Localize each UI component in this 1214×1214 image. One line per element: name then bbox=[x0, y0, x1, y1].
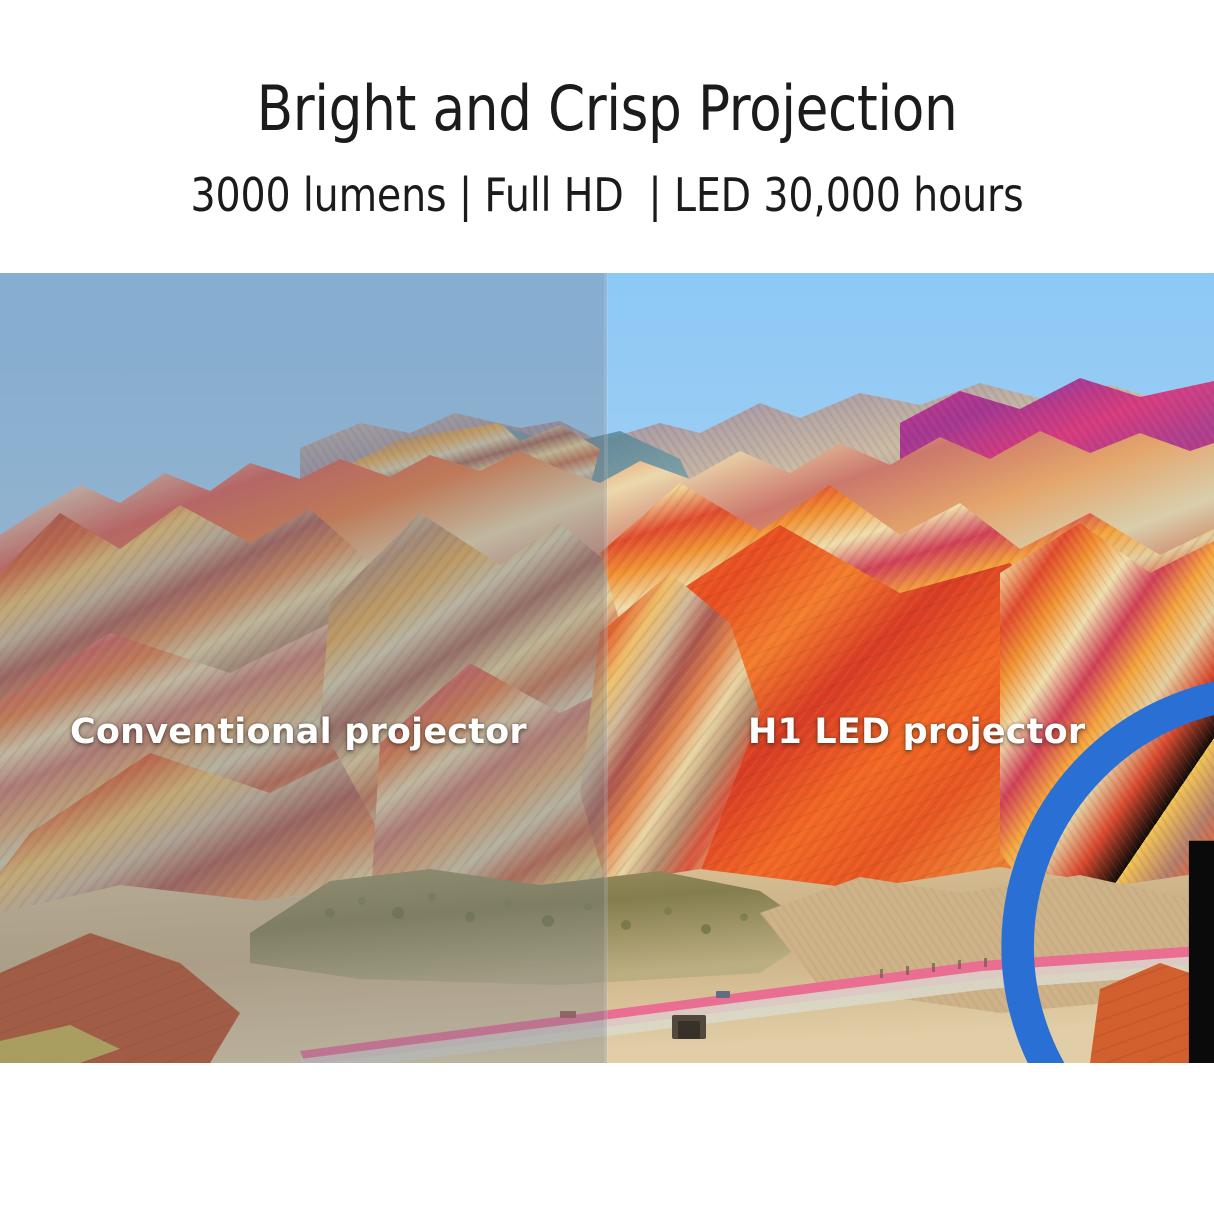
header-block: Bright and Crisp Projection 3000 lumens … bbox=[0, 0, 1214, 273]
comparison-photo: PICTURE BY DLP ® TEXAS INSTRUMENTS bbox=[0, 273, 1214, 1063]
footer-whitespace bbox=[0, 1063, 1214, 1214]
dlp-logo: PICTURE BY DLP ® TEXAS INSTRUMENTS bbox=[958, 573, 1182, 701]
product-feature-banner: Bright and Crisp Projection 3000 lumens … bbox=[0, 0, 1214, 1214]
page-title: Bright and Crisp Projection bbox=[85, 78, 1129, 140]
label-h1-led-projector: H1 LED projector bbox=[748, 712, 1085, 752]
dlp-wordmark: DLP bbox=[1153, 764, 1214, 1063]
spec-subtitle: 3000 lumens | Full HD | LED 30,000 hours bbox=[85, 172, 1129, 218]
label-conventional-projector: Conventional projector bbox=[70, 712, 527, 752]
